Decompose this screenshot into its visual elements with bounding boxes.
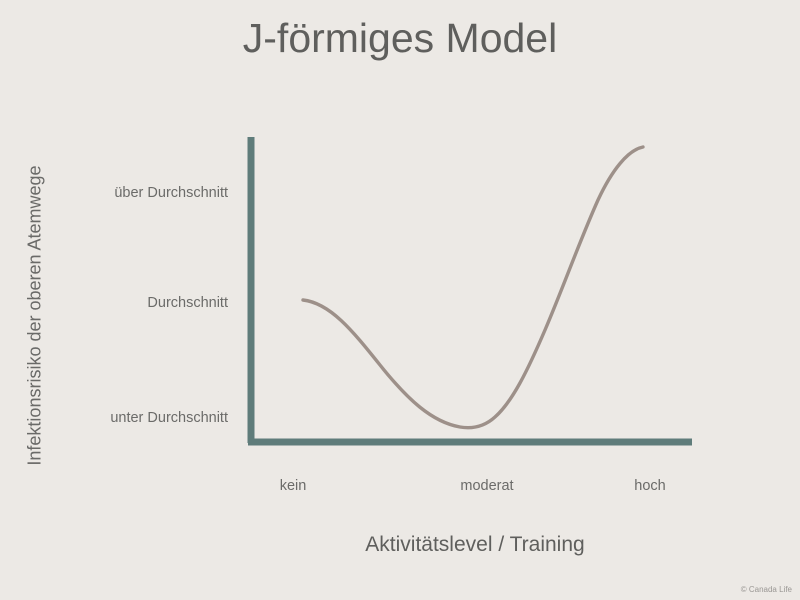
data-curve-j-shape (303, 147, 643, 428)
copyright-notice: © Canada Life (741, 585, 792, 594)
chart-container: J-förmiges Model Infektionsrisiko der ob… (0, 0, 800, 600)
plot-area (0, 0, 800, 600)
